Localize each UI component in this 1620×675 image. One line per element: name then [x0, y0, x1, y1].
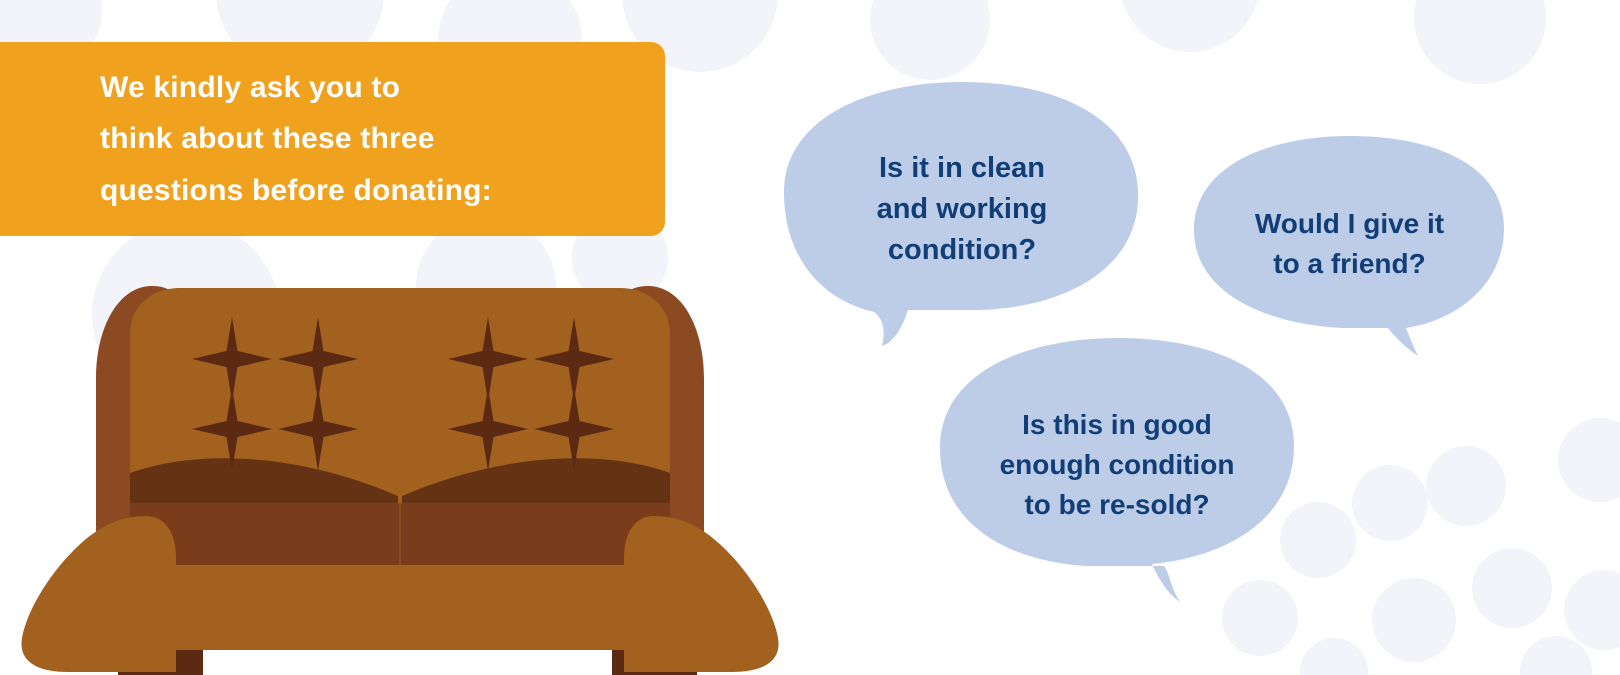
speech-bubble-clean-working: Is it in clean and working condition? — [782, 80, 1142, 348]
background-circle — [1558, 418, 1620, 502]
bubble-shape-2 — [1194, 136, 1504, 356]
banner-line-1: We kindly ask you to — [100, 62, 639, 114]
background-circle — [1472, 548, 1552, 628]
callout-banner: We kindly ask you to think about these t… — [0, 42, 665, 236]
background-circle — [1300, 638, 1368, 675]
background-circle — [1352, 465, 1428, 541]
speech-bubble-re-sold: Is this in good enough condition to be r… — [936, 336, 1298, 604]
infographic-canvas: We kindly ask you to think about these t… — [0, 0, 1620, 675]
sofa-arm-right — [624, 516, 779, 672]
speech-bubble-give-to-friend: Would I give it to a friend? — [1192, 134, 1507, 360]
bubble-shape-3 — [940, 338, 1294, 602]
background-circle — [870, 0, 990, 80]
brown-sofa-illustration — [0, 258, 800, 675]
banner-line-2: think about these three — [100, 113, 639, 165]
background-circle — [1414, 0, 1546, 84]
sofa-skirt — [130, 565, 670, 650]
bubble-shape-1 — [784, 82, 1138, 346]
background-circle — [1564, 570, 1620, 650]
background-circle — [1120, 0, 1260, 52]
background-circle — [1426, 446, 1506, 526]
background-circle — [1372, 578, 1456, 662]
banner-line-3: questions before donating: — [100, 165, 639, 217]
sofa-arm-left — [21, 516, 176, 672]
